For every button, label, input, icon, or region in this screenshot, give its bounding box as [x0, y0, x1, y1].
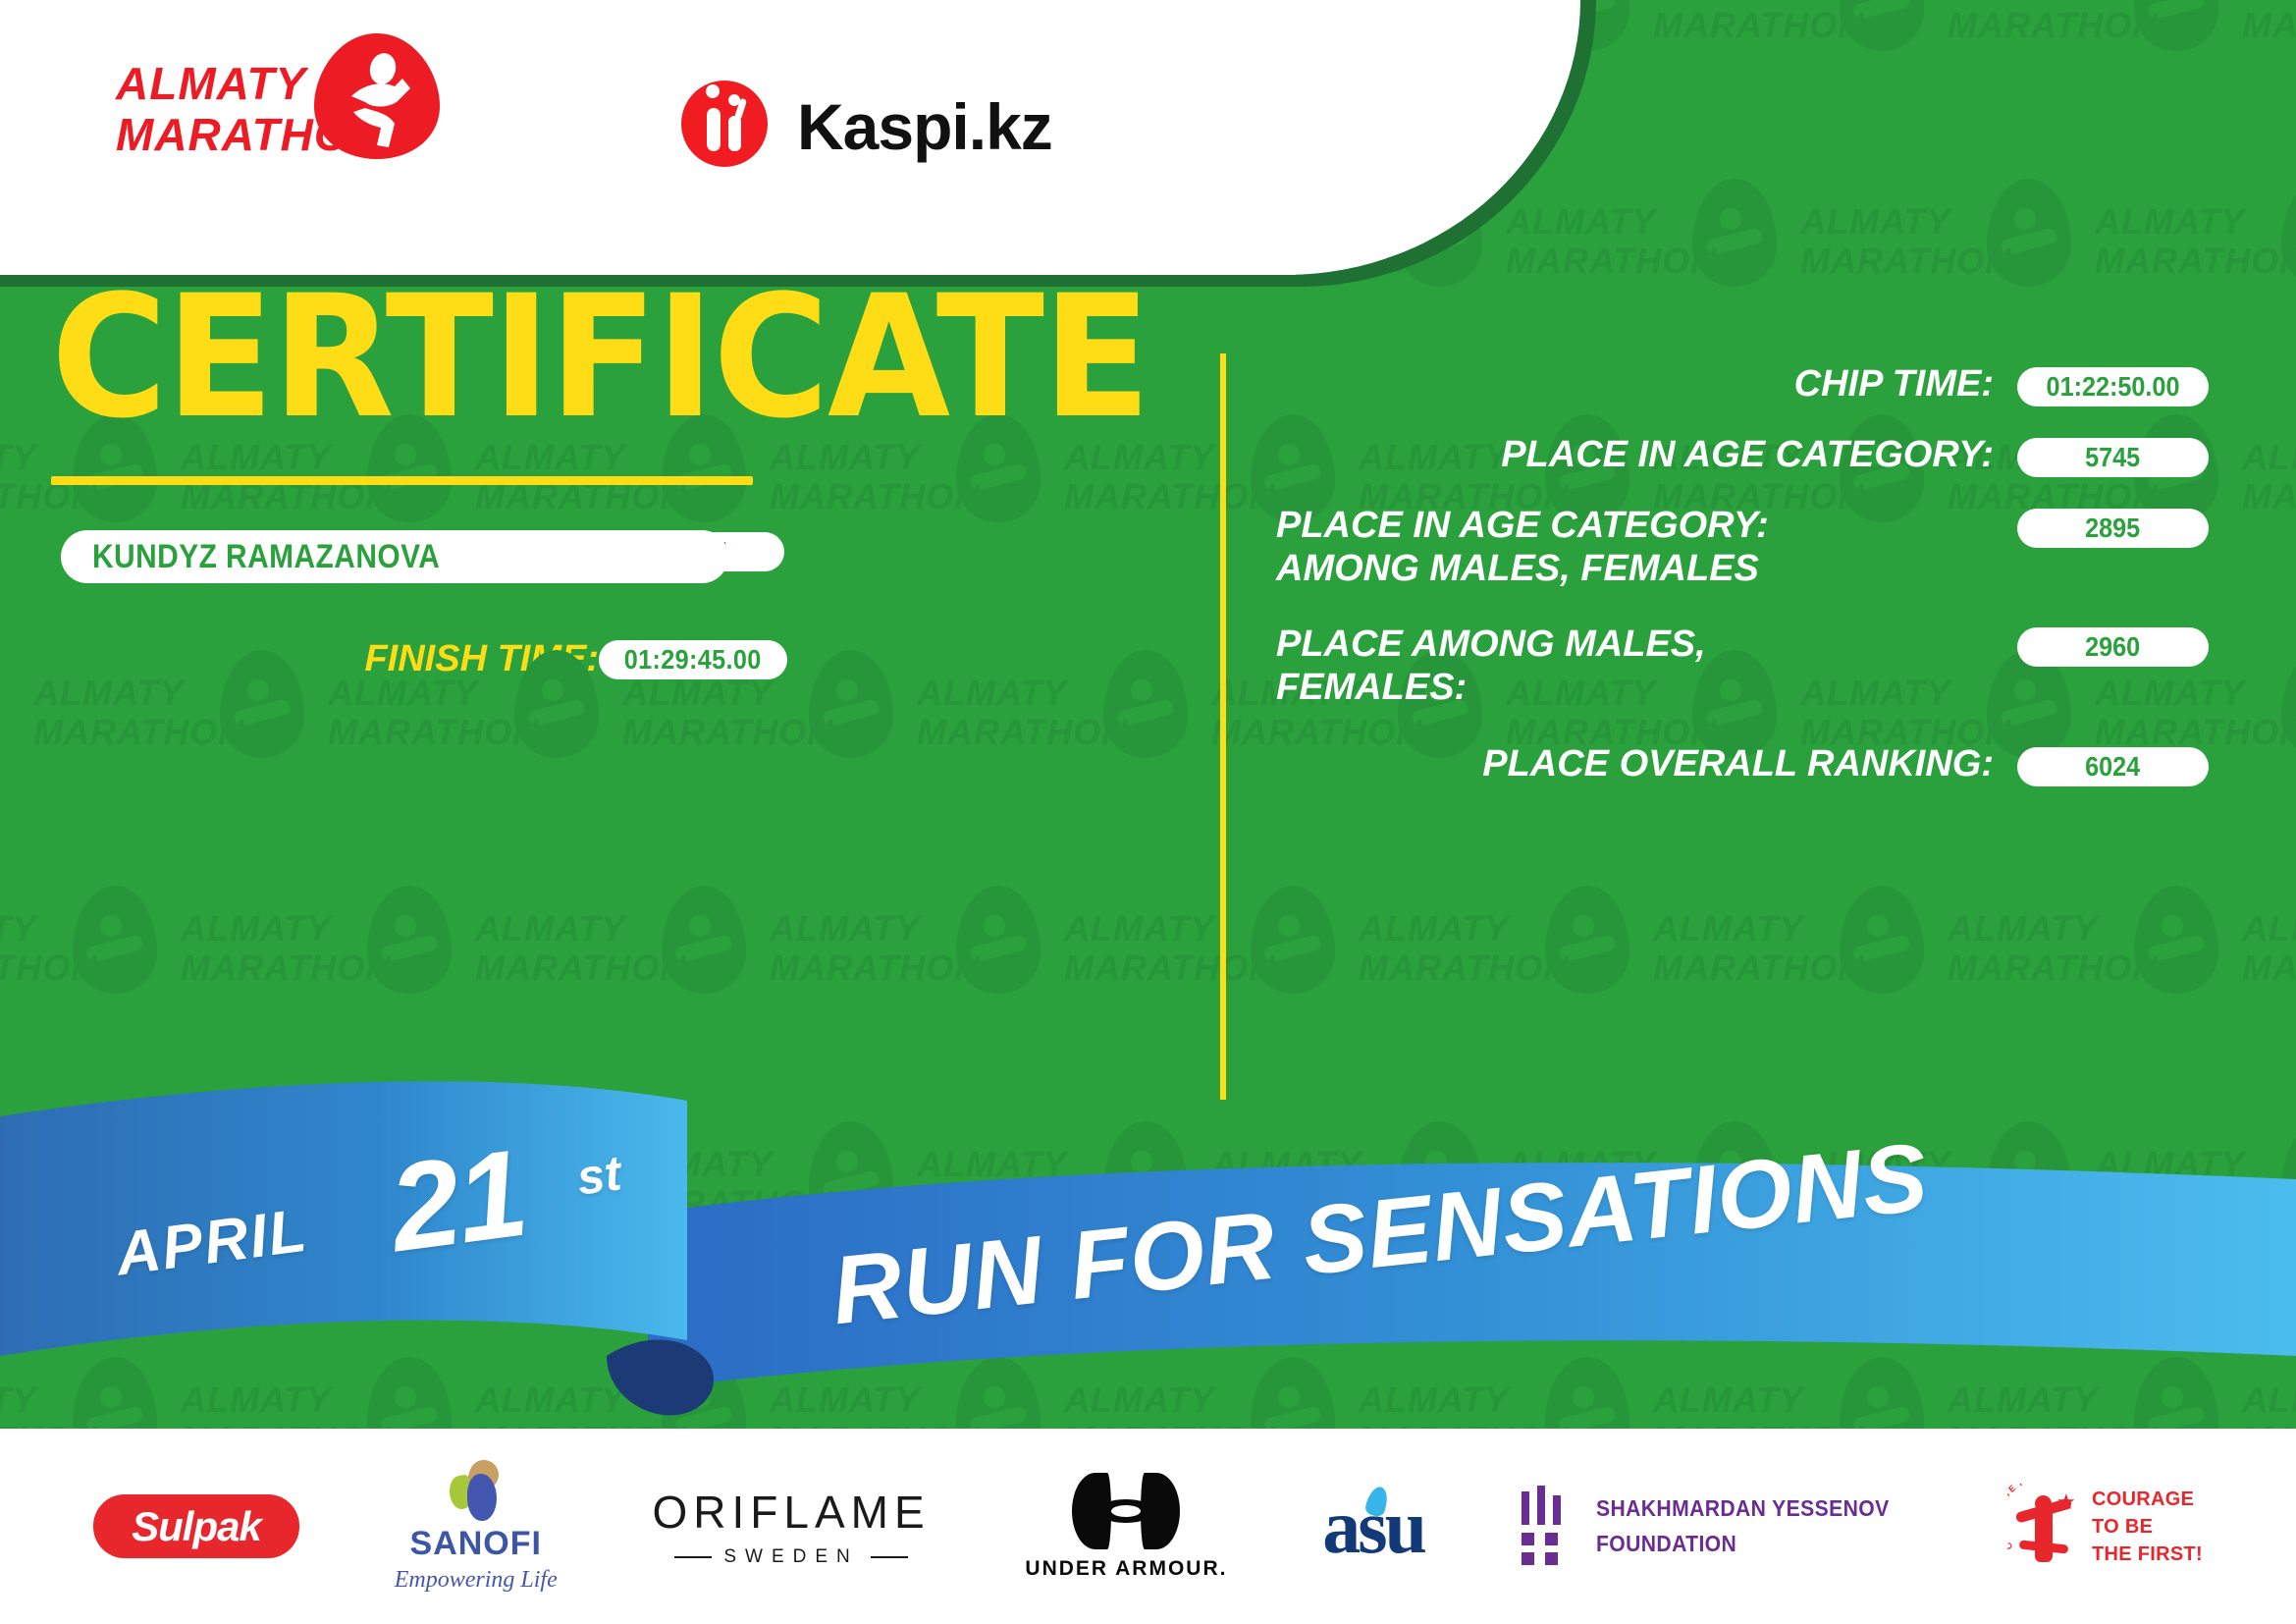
sponsor-asu: asu — [1322, 1483, 1424, 1571]
watermark-tile: ALMATYMARATHON — [0, 1355, 177, 1434]
star-icon: ★ — [2056, 1489, 2076, 1515]
watermark-tile: ALMATYMARATHON — [2238, 0, 2296, 177]
watermark-text: ALMATYMARATHON — [2095, 202, 2296, 281]
result-row: PLACE AMONG MALES,FEMALES:2960 — [1276, 623, 2209, 709]
sulpak-wordmark: Sulpak — [132, 1503, 261, 1550]
watermark-drop-icon — [809, 1121, 893, 1229]
watermark-text: ALMATYMARATHON — [770, 909, 981, 988]
kaspi-people-icon — [677, 77, 772, 176]
watermark-tile: ALMATYMARATHON — [2091, 1119, 2296, 1355]
certificate-page: ALMATYMARATHONALMATYMARATHONALMATYMARATH… — [0, 0, 2296, 1624]
watermark-drop-icon — [73, 886, 157, 994]
sulpak-logo: Sulpak — [93, 1494, 299, 1558]
watermark-tile: ALMATYMARATHON — [1649, 1355, 1944, 1434]
watermark-drop-icon — [1840, 886, 1924, 994]
page-title: CERTIFICATE — [51, 273, 1149, 442]
kaspi-wordmark: Kaspi.kz — [797, 89, 1052, 164]
watermark-tile: ALMATYMARATHON — [2238, 412, 2296, 648]
watermark-drop-icon — [809, 650, 893, 758]
watermark-tile: ALMATYMARATHON — [766, 884, 1060, 1119]
watermark-tile: ALMATYMARATHON — [1649, 0, 1944, 177]
watermark-text: ALMATYMARATHON — [2095, 1145, 2296, 1223]
finish-time-value: 01:29:45.00 — [624, 644, 762, 676]
watermark-text: ALMATYMARATHON — [0, 1380, 97, 1434]
watermark-drop-icon — [2281, 650, 2296, 758]
watermark-drop-icon — [1840, 1357, 1924, 1434]
sponsor-under-armour: UNDER ARMOUR. — [1025, 1473, 1227, 1581]
watermark-drop-icon — [1692, 179, 1777, 287]
courage-line3: THE FIRST! — [2092, 1541, 2203, 1568]
watermark-text: ALMATYMARATHON — [1653, 909, 1864, 988]
oriflame-wordmark: ORIFLAME — [653, 1486, 931, 1539]
result-value: 2895 — [2085, 513, 2140, 544]
result-label: PLACE IN AGE CATEGORY:AMONG MALES, FEMAL… — [1276, 505, 2017, 590]
oriflame-dash-left — [674, 1556, 712, 1558]
watermark-text: ALMATYMARATHON — [1064, 909, 1275, 988]
runner-drop-icon — [308, 29, 446, 168]
watermark-tile: ALMATYMARATHON — [1060, 1355, 1355, 1434]
watermark-text: ALMATYMARATHON — [475, 909, 686, 988]
result-row: CHIP TIME:01:22:50.00 — [1276, 363, 2209, 406]
watermark-tile: ALMATYMARATHON — [1355, 884, 1649, 1119]
watermark-drop-icon — [367, 886, 452, 994]
result-row: PLACE IN AGE CATEGORY:AMONG MALES, FEMAL… — [1276, 505, 2209, 590]
result-value: 5745 — [2085, 442, 2140, 473]
watermark-tile: ALMATYMARATHON — [1944, 1355, 2238, 1434]
under-armour-wordmark: UNDER ARMOUR. — [1025, 1557, 1227, 1581]
result-label: PLACE IN AGE CATEGORY: — [1276, 434, 2017, 477]
watermark-text: ALMATYMARATHON — [1653, 1380, 1864, 1434]
result-value-pill: 2895 — [2017, 509, 2209, 548]
oriflame-dash-right — [871, 1556, 908, 1558]
watermark-tile: ALMATYMARATHON — [2238, 1355, 2296, 1434]
participant-name: KUNDYZ RAMAZANOVA — [92, 538, 440, 576]
watermark-tile: ALMATYMARATHON — [29, 648, 324, 884]
result-row: PLACE IN AGE CATEGORY:5745 — [1276, 434, 2209, 477]
watermark-tile: ALMATYMARATHON — [618, 648, 913, 884]
watermark-text: ALMATYMARATHON — [328, 674, 539, 752]
watermark-drop-icon — [1987, 179, 2071, 287]
result-value-pill: 2960 — [2017, 627, 2209, 667]
under-armour-icon — [1072, 1473, 1180, 1549]
watermark-tile: ALMATYMARATHON — [177, 884, 471, 1119]
result-value: 2960 — [2085, 631, 2140, 663]
watermark-text: ALMATYMARATHON — [2242, 909, 2296, 988]
sanofi-tagline: Empowering Life — [395, 1567, 558, 1594]
watermark-tile: ALMATYMARATHON — [0, 884, 177, 1119]
watermark-tile: ALMATYMARATHON — [1649, 884, 1944, 1119]
watermark-text: ALMATYMARATHON — [0, 909, 97, 988]
watermark-drop-icon — [1840, 0, 1924, 51]
watermark-text: ALMATYMARATHON — [1653, 0, 1864, 45]
finish-time-row: FINISH TIME: 01:29:45.00 — [265, 638, 787, 680]
sponsor-sulpak: Sulpak — [93, 1494, 299, 1558]
watermark-text: ALMATYMARATHON — [622, 674, 833, 752]
watermark-drop-icon — [2134, 1357, 2218, 1434]
watermark-text: ALMATYMARATHON — [917, 674, 1128, 752]
watermark-drop-icon — [956, 1357, 1041, 1434]
yessenov-line1: SHAKHMARDAN YESSENOV — [1596, 1491, 1890, 1527]
result-label: CHIP TIME: — [1276, 363, 2017, 406]
finish-time-value-pill: 01:29:45.00 — [599, 640, 787, 679]
watermark-text: ALMATYMARATHON — [2242, 438, 2296, 516]
watermark-tile: ALMATYMARATHON — [2238, 884, 2296, 1119]
watermark-text: ALMATYMARATHON — [770, 1380, 981, 1434]
finish-time-label: FINISH TIME: — [265, 638, 599, 680]
watermark-drop-icon — [2281, 179, 2296, 287]
sponsor-sanofi: SANOFI Empowering Life — [395, 1460, 558, 1594]
watermark-drop-icon — [956, 886, 1041, 994]
watermark-text: ALMATYMARATHON — [1948, 0, 2159, 45]
watermark-tile: ALMATYMARATHON — [324, 648, 618, 884]
sponsor-yessenov-foundation: SHAKHMARDAN YESSENOV FOUNDATION — [1520, 1486, 1915, 1568]
sponsor-oriflame: ORIFLAME SWEDEN — [653, 1486, 931, 1568]
watermark-drop-icon — [1251, 1357, 1335, 1434]
watermark-text: ALMATYMARATHON — [1948, 909, 2159, 988]
courage-fund-icon: CORPORATE FUND ★ — [2009, 1482, 2082, 1572]
courage-line2: TO BE — [2092, 1513, 2203, 1541]
watermark-tile: ALMATYMARATHON — [1060, 884, 1355, 1119]
results-list: CHIP TIME:01:22:50.00PLACE IN AGE CATEGO… — [1276, 363, 2209, 820]
sponsor-strip: Sulpak SANOFI Empowering Life ORIFLAME S… — [0, 1429, 2296, 1624]
watermark-tile: ALMATYMARATHON — [177, 1355, 471, 1434]
participant-name-field: KUNDYZ RAMAZANOVA — [61, 530, 728, 583]
watermark-drop-icon — [2281, 1121, 2296, 1229]
watermark-text: ALMATYMARATHON — [2242, 0, 2296, 45]
oriflame-country: SWEDEN — [723, 1546, 858, 1568]
ribbon-day: 21 — [382, 1121, 533, 1280]
watermark-text: ALMATYMARATHON — [1948, 1380, 2159, 1434]
watermark-text: ALMATYMARATHON — [33, 674, 244, 752]
watermark-drop-icon — [662, 886, 746, 994]
result-value: 01:22:50.00 — [2047, 371, 2180, 403]
watermark-text: ALMATYMARATHON — [2242, 1380, 2296, 1434]
watermark-text: ALMATYMARATHON — [1064, 1380, 1275, 1434]
result-row: PLACE OVERALL RANKING:6024 — [1276, 743, 2209, 786]
watermark-drop-icon — [662, 1357, 746, 1434]
yessenov-icon — [1520, 1486, 1576, 1568]
almaty-marathon-logo: ALMATY MARATHON — [116, 61, 384, 157]
watermark-drop-icon — [1545, 1357, 1629, 1434]
watermark-tile: ALMATYMARATHON — [1944, 884, 2238, 1119]
result-value: 6024 — [2085, 751, 2140, 783]
result-value-pill: 01:22:50.00 — [2017, 367, 2209, 406]
watermark-tile: ALMATYMARATHON — [471, 1355, 766, 1434]
result-value-pill: 6024 — [2017, 747, 2209, 786]
watermark-text: ALMATYMARATHON — [1359, 1380, 1570, 1434]
result-label: PLACE AMONG MALES,FEMALES: — [1276, 623, 2017, 709]
column-divider — [1220, 353, 1226, 1100]
ribbon-day-suffix: st — [573, 1144, 624, 1206]
sponsor-courage-fund: CORPORATE FUND ★ COURAGE TO BE THE FIRST… — [2009, 1482, 2203, 1572]
watermark-tile: ALMATYMARATHON — [1944, 0, 2238, 177]
watermark-tile: ALMATYMARATHON — [1355, 1355, 1649, 1434]
watermark-text: ALMATYMARATHON — [181, 909, 392, 988]
watermark-drop-icon — [2134, 886, 2218, 994]
watermark-tile: ALMATYMARATHON — [913, 648, 1207, 884]
watermark-text: ALMATYMARATHON — [622, 1145, 833, 1223]
sanofi-icon — [444, 1460, 508, 1521]
kaspi-logo: Kaspi.kz — [677, 77, 1052, 176]
watermark-drop-icon — [2134, 0, 2218, 51]
yessenov-line2: FOUNDATION — [1596, 1527, 1890, 1562]
watermark-drop-icon — [1103, 650, 1188, 758]
result-value-pill: 5745 — [2017, 438, 2209, 477]
watermark-tile: ALMATYMARATHON — [766, 1355, 1060, 1434]
watermark-drop-icon — [73, 1357, 157, 1434]
watermark-drop-icon — [367, 1357, 452, 1434]
watermark-tile: ALMATYMARATHON — [471, 884, 766, 1119]
watermark-text: ALMATYMARATHON — [1359, 909, 1570, 988]
watermark-text: ALMATYMARATHON — [475, 1380, 686, 1434]
oriflame-subline: SWEDEN — [674, 1546, 907, 1568]
watermark-text: ALMATYMARATHON — [1506, 202, 1717, 281]
courage-line1: COURAGE — [2092, 1486, 2203, 1513]
watermark-text: ALMATYMARATHON — [181, 1380, 392, 1434]
watermark-drop-icon — [1545, 886, 1629, 994]
title-underline — [51, 476, 753, 485]
watermark-drop-icon — [1251, 886, 1335, 994]
watermark-drop-icon — [1987, 1121, 2071, 1229]
watermark-text: ALMATYMARATHON — [1800, 202, 2011, 281]
sanofi-wordmark: SANOFI — [410, 1525, 542, 1563]
result-label: PLACE OVERALL RANKING: — [1276, 743, 2017, 786]
